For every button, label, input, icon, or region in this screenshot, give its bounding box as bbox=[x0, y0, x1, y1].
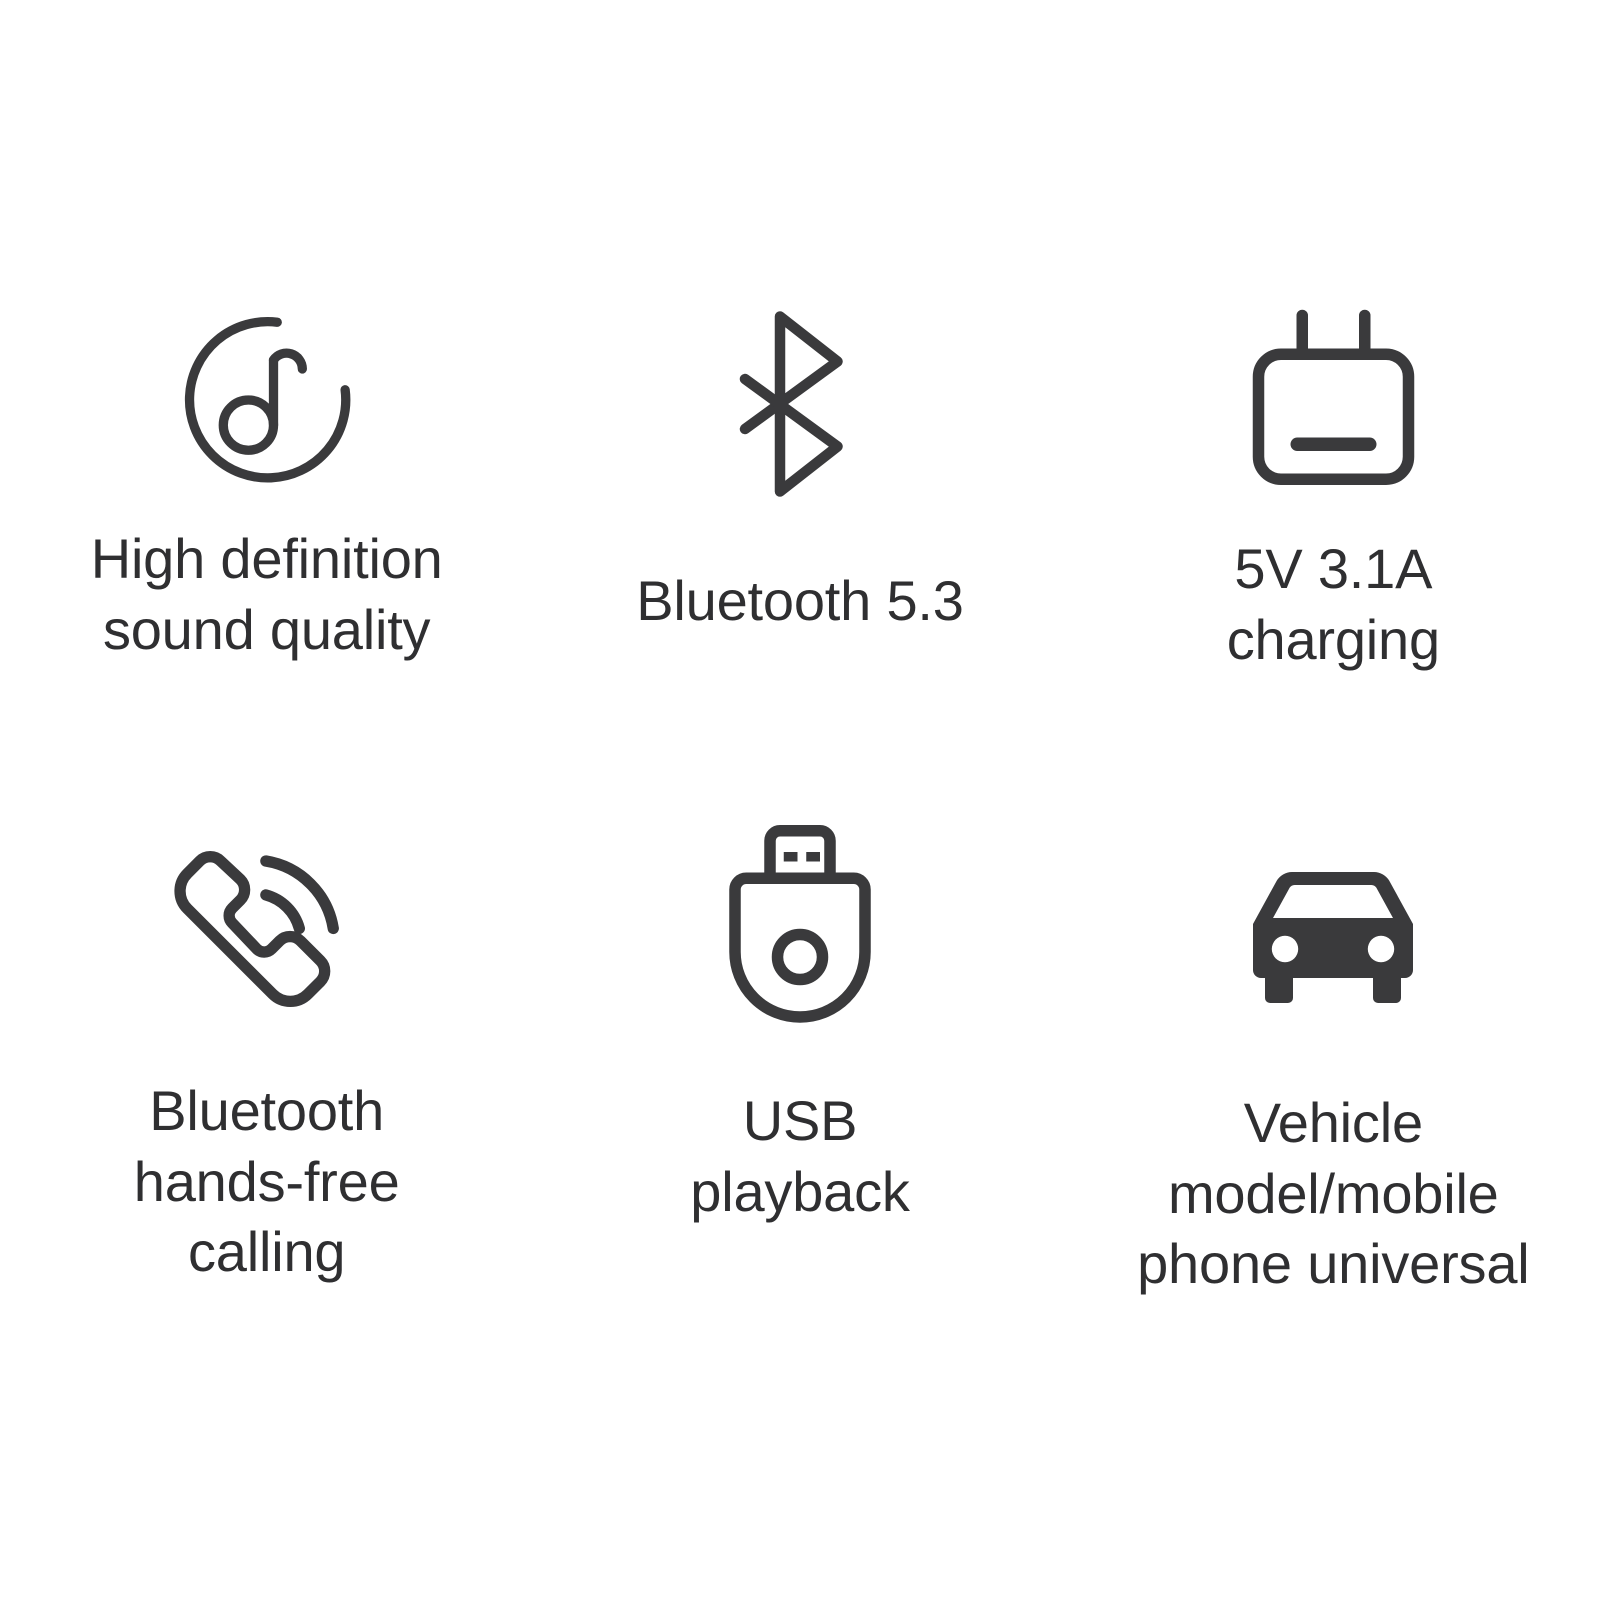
feature-item-high-definition-sound-quality: High definition sound quality bbox=[0, 300, 533, 830]
feature-item-usb-playback: USB playback bbox=[533, 830, 1066, 1360]
feature-grid: High definition sound quality Bluetooth … bbox=[0, 0, 1600, 1600]
feature-item-bluetooth-hands-free-calling: Bluetooth hands-free calling bbox=[0, 830, 533, 1360]
usb-flash-drive-icon bbox=[700, 824, 900, 1024]
phone-call-waves-icon bbox=[167, 830, 367, 1030]
feature-item-bluetooth-53: Bluetooth 5.3 bbox=[533, 300, 1066, 830]
feature-label: Bluetooth 5.3 bbox=[636, 566, 963, 637]
feature-label: USB playback bbox=[690, 1086, 909, 1227]
car-front-icon bbox=[1233, 838, 1433, 1038]
feature-label: Vehicle model/mobile phone universal bbox=[1137, 1088, 1529, 1300]
feature-label: High definition sound quality bbox=[91, 524, 443, 665]
feature-label: Bluetooth hands-free calling bbox=[134, 1076, 400, 1288]
music-note-circle-icon bbox=[167, 300, 367, 500]
feature-label: 5V 3.1A charging bbox=[1227, 534, 1440, 675]
feature-item-vehicle-universal: Vehicle model/mobile phone universal bbox=[1067, 830, 1600, 1360]
wall-charger-icon bbox=[1233, 300, 1433, 500]
feature-item-5v-31a-charging: 5V 3.1A charging bbox=[1067, 300, 1600, 830]
bluetooth-icon bbox=[700, 304, 900, 504]
